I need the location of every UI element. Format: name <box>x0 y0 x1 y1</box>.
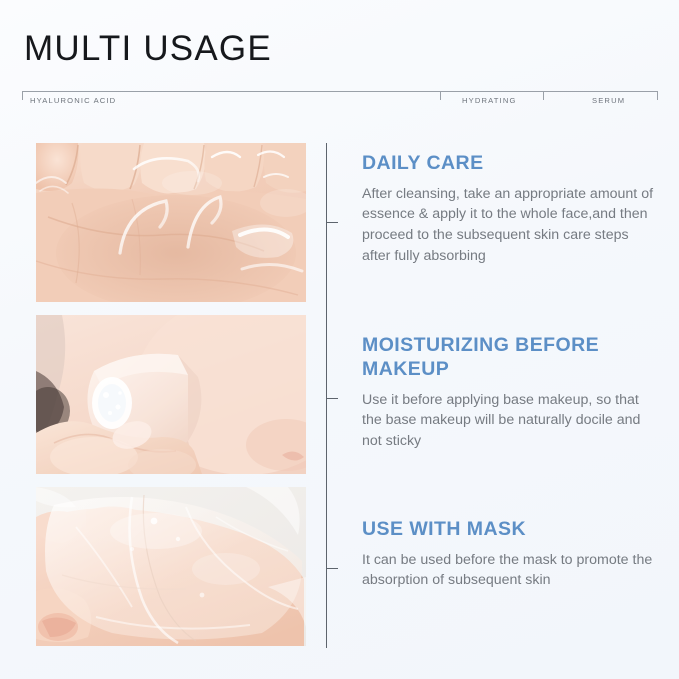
vertical-divider <box>326 143 327 648</box>
section-body-moisturizing-before-makeup: Use it before applying base makeup, so t… <box>362 390 656 452</box>
section-heading-moisturizing-before-makeup: MOISTURIZING BEFORE MAKEUP <box>362 334 656 382</box>
section-use-with-mask: USE WITH MASK It can be used before the … <box>362 518 656 591</box>
divider-tick-2 <box>327 398 338 399</box>
page-title: MULTI USAGE <box>24 29 272 69</box>
section-heading-daily-care: DAILY CARE <box>362 152 656 176</box>
divider-tick-3 <box>327 568 338 569</box>
photo-makeup-sponge-art <box>36 315 306 474</box>
tag-label-serum: SERUM <box>592 96 625 105</box>
divider-tick-1 <box>327 222 338 223</box>
photo-sheet-mask-art <box>36 487 306 646</box>
section-body-daily-care: After cleansing, take an appropriate amo… <box>362 184 656 266</box>
tag-label-hydrating: HYDRATING <box>462 96 517 105</box>
header-rule <box>22 91 658 92</box>
infographic-page: MULTI USAGE HYALURONIC ACID HYDRATING SE… <box>0 0 679 679</box>
tag-label-hyaluronic-acid: HYALURONIC ACID <box>30 96 116 105</box>
photo-serum-on-palm-art <box>36 143 306 302</box>
rule-tick-4 <box>657 91 658 100</box>
section-heading-use-with-mask: USE WITH MASK <box>362 518 656 542</box>
photo-serum-on-palm <box>36 143 306 302</box>
photo-sheet-mask <box>36 487 306 646</box>
section-body-use-with-mask: It can be used before the mask to promot… <box>362 550 656 591</box>
rule-tick-3 <box>543 91 544 100</box>
rule-tick-1 <box>22 91 23 100</box>
section-moisturizing-before-makeup: MOISTURIZING BEFORE MAKEUP Use it before… <box>362 334 656 451</box>
photo-makeup-sponge <box>36 315 306 474</box>
rule-tick-2 <box>440 91 441 100</box>
section-daily-care: DAILY CARE After cleansing, take an appr… <box>362 152 656 266</box>
